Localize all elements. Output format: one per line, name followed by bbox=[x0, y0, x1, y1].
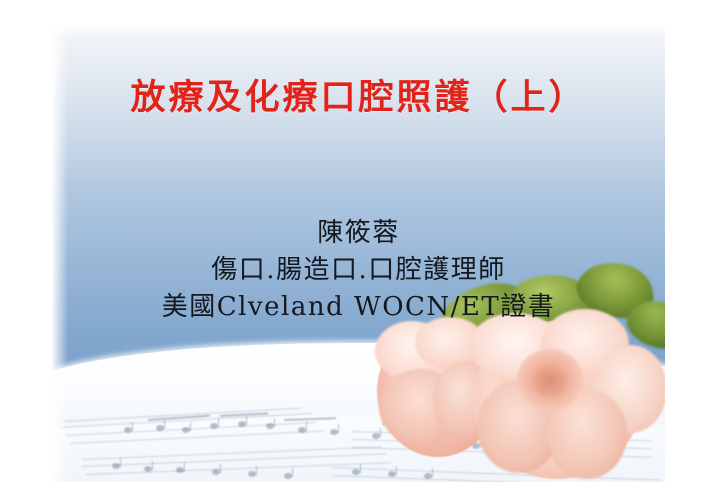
presenter-role: 傷口.腸造口.口腔護理師 bbox=[52, 252, 665, 289]
presenter-credential: 美國Clveland WOCN/ET證書 bbox=[52, 289, 665, 326]
slide-title: 放療及化療口腔照護（上） bbox=[52, 78, 665, 118]
edge-fade-top bbox=[52, 23, 665, 37]
slide-subtitle: 陳筱蓉 傷口.腸造口.口腔護理師 美國Clveland WOCN/ET證書 bbox=[52, 215, 665, 326]
presentation-slide: 放療及化療口腔照護（上） 陳筱蓉 傷口.腸造口.口腔護理師 美國Clveland… bbox=[52, 23, 665, 482]
slide-page: 放療及化療口腔照護（上） 陳筱蓉 傷口.腸造口.口腔護理師 美國Clveland… bbox=[0, 0, 713, 504]
presenter-name: 陳筱蓉 bbox=[52, 215, 665, 252]
